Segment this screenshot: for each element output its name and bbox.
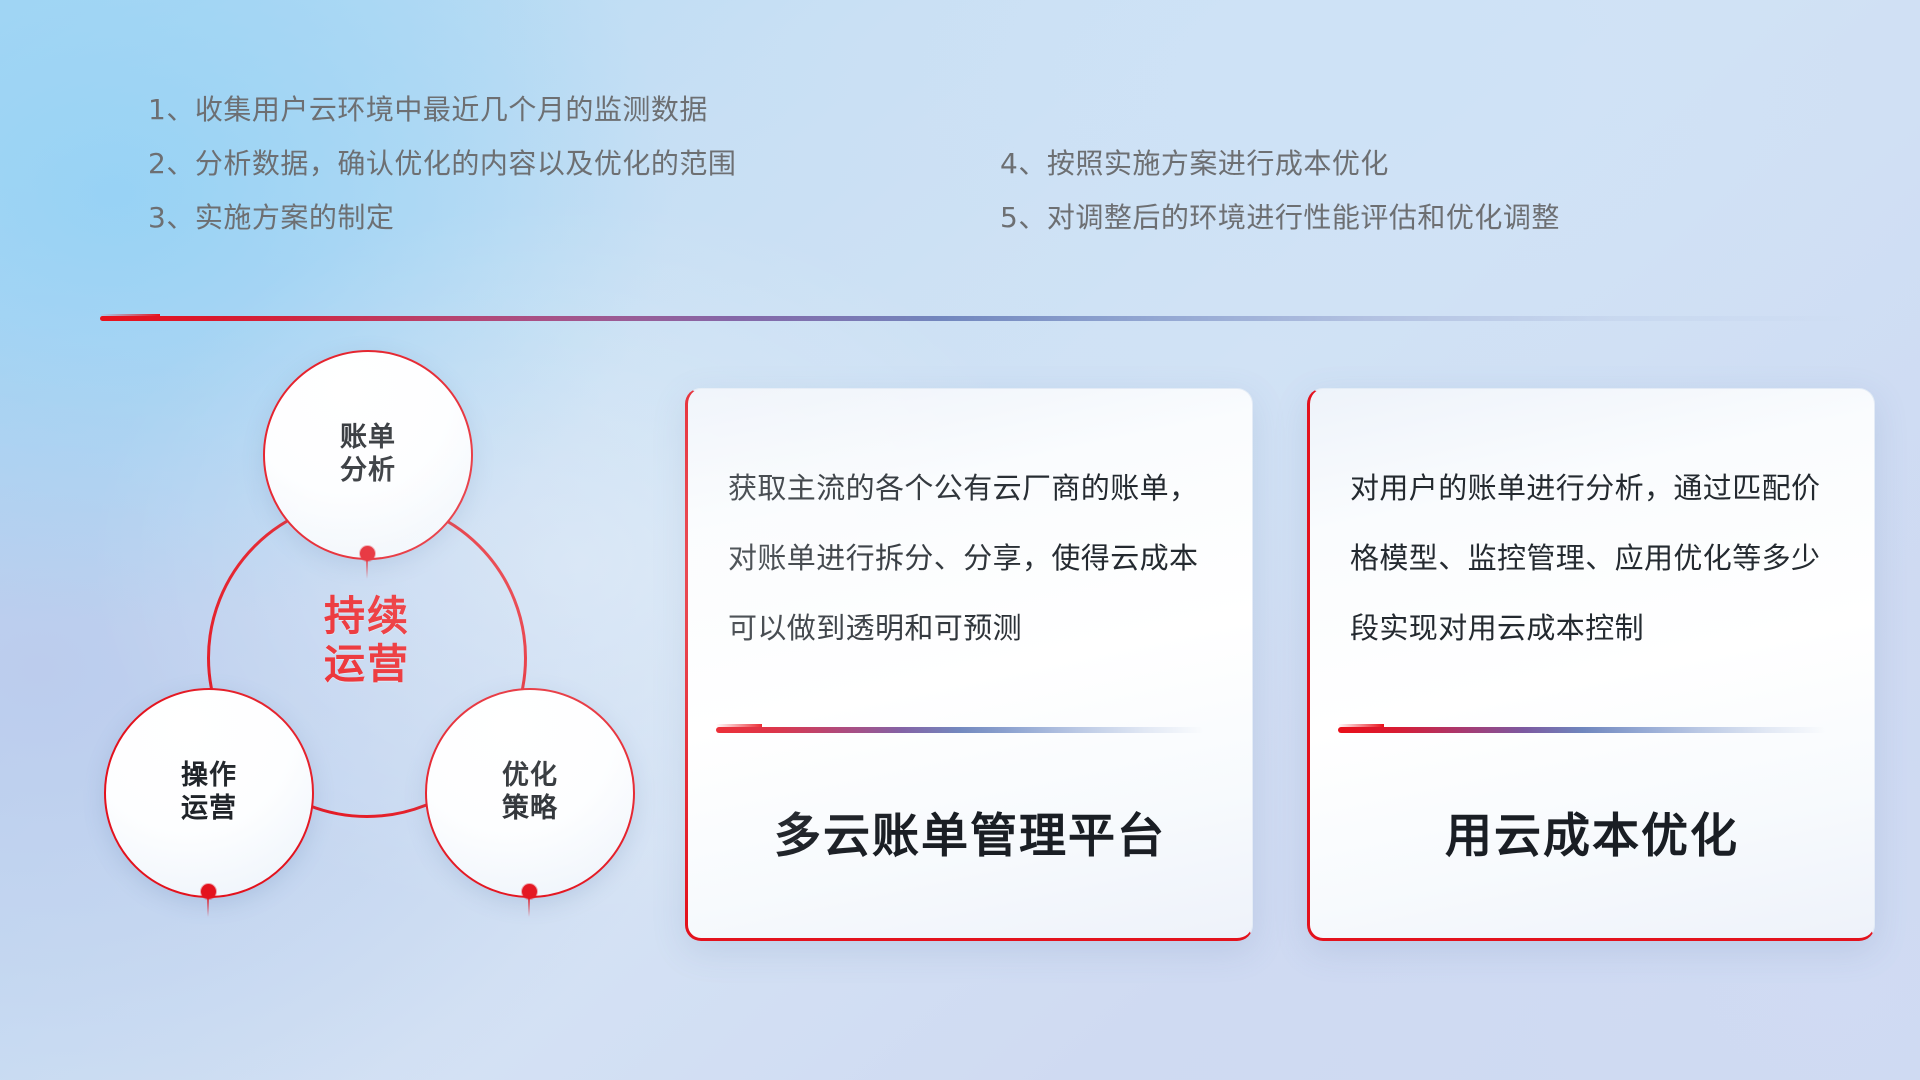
- diagram-node-dot-top: [360, 546, 375, 561]
- step-item-1: 1、收集用户云环境中最近几个月的监测数据: [148, 96, 736, 124]
- diagram-bubble-optimization-strategy[interactable]: 优化 策略: [425, 688, 635, 898]
- center-label-line-1: 持续: [207, 592, 527, 640]
- diagram-bubble-bill-analysis[interactable]: 账单 分析: [263, 350, 473, 560]
- card-title: 用云成本优化: [1310, 797, 1874, 866]
- bubble-label-line-1: 操作: [181, 760, 237, 793]
- bubble-label-line-2: 分析: [340, 455, 396, 488]
- slide-canvas: 1、收集用户云环境中最近几个月的监测数据 2、分析数据，确认优化的内容以及优化的…: [0, 0, 1920, 1080]
- card-accent-rule: [716, 727, 1204, 733]
- bubble-label-line-2: 策略: [502, 793, 558, 826]
- step-item-3: 3、实施方案的制定: [148, 204, 736, 232]
- feature-card-multicloud-billing[interactable]: 获取主流的各个公有云厂商的账单，对账单进行拆分、分享，使得云成本可以做到透明和可…: [685, 388, 1253, 941]
- continuous-operation-diagram: 持续 运营 账单 分析 操作 运营 优化 策略: [95, 350, 655, 930]
- step-item-2: 2、分析数据，确认优化的内容以及优化的范围: [148, 150, 736, 178]
- header-divider-rule: [100, 316, 1860, 321]
- diagram-node-dot-right: [522, 884, 537, 899]
- card-body-text: 获取主流的各个公有云厂商的账单，对账单进行拆分、分享，使得云成本可以做到透明和可…: [728, 453, 1214, 664]
- card-title: 多云账单管理平台: [688, 797, 1252, 866]
- card-body-text: 对用户的账单进行分析，通过匹配价格模型、监控管理、应用优化等多少段实现对用云成本…: [1350, 453, 1836, 664]
- steps-right-column: 4、按照实施方案进行成本优化 5、对调整后的环境进行性能评估和优化调整: [1000, 150, 1560, 258]
- bubble-label-line-1: 账单: [340, 422, 396, 455]
- step-item-4: 4、按照实施方案进行成本优化: [1000, 150, 1560, 178]
- center-label-line-2: 运营: [207, 640, 527, 688]
- card-accent-rule: [1338, 727, 1826, 733]
- bubble-label-line-1: 优化: [502, 760, 558, 793]
- steps-left-column: 1、收集用户云环境中最近几个月的监测数据 2、分析数据，确认优化的内容以及优化的…: [148, 96, 736, 258]
- feature-card-cloud-cost-optimization[interactable]: 对用户的账单进行分析，通过匹配价格模型、监控管理、应用优化等多少段实现对用云成本…: [1307, 388, 1875, 941]
- step-item-5: 5、对调整后的环境进行性能评估和优化调整: [1000, 204, 1560, 232]
- diagram-bubble-operations[interactable]: 操作 运营: [104, 688, 314, 898]
- bubble-label-line-2: 运营: [181, 793, 237, 826]
- diagram-center-label: 持续 运营: [207, 592, 527, 689]
- diagram-node-dot-left: [201, 884, 216, 899]
